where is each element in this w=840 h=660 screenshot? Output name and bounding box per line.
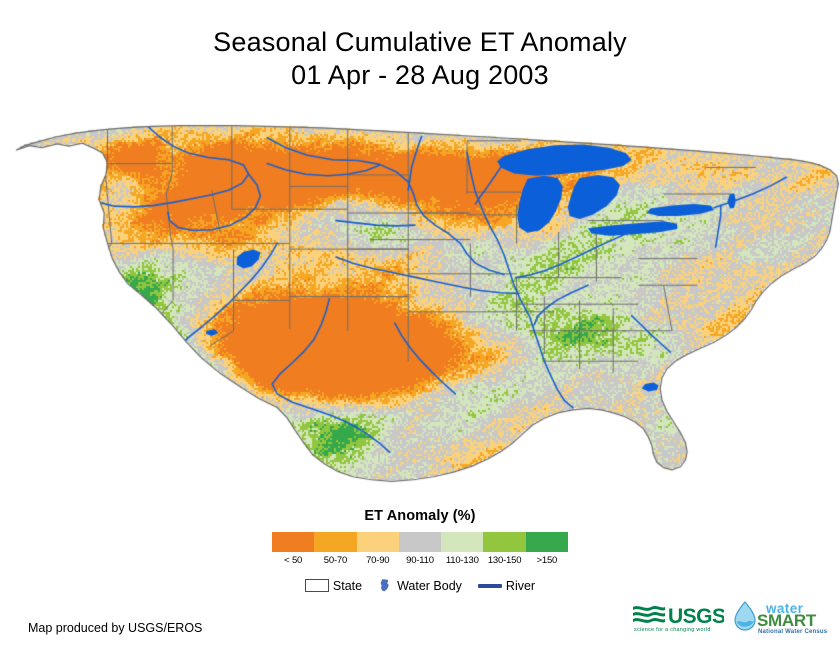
legend-symbol-water-body-label: Water Body bbox=[397, 579, 462, 593]
title-line-1: Seasonal Cumulative ET Anomaly bbox=[0, 26, 840, 59]
map-raster-canvas bbox=[0, 118, 840, 498]
legend-swatch-4 bbox=[441, 532, 483, 552]
legend-symbol-state-label: State bbox=[333, 579, 362, 593]
legend-swatch-0 bbox=[272, 532, 314, 552]
svg-text:National Water Census: National Water Census bbox=[758, 629, 828, 635]
usgs-logo: USGS science for a changing world bbox=[632, 601, 724, 640]
legend-label-6: >150 bbox=[526, 555, 568, 566]
legend-symbol-river-label: River bbox=[506, 579, 535, 593]
et-anomaly-map bbox=[0, 118, 840, 498]
legend-title: ET Anomaly (%) bbox=[0, 508, 840, 524]
state-outline-icon bbox=[305, 579, 329, 592]
legend-class-labels: < 5050-7070-9090-110110-130130-150>150 bbox=[272, 555, 568, 566]
legend-swatch-3 bbox=[399, 532, 441, 552]
legend-label-5: 130-150 bbox=[483, 555, 525, 566]
legend-label-2: 70-90 bbox=[357, 555, 399, 566]
title-line-2: 01 Apr - 28 Aug 2003 bbox=[0, 59, 840, 92]
river-line-icon bbox=[478, 584, 502, 588]
legend-label-0: < 50 bbox=[272, 555, 314, 566]
legend-label-1: 50-70 bbox=[314, 555, 356, 566]
legend-swatch-6 bbox=[526, 532, 568, 552]
legend-symbol-row: State Water Body River bbox=[0, 578, 840, 593]
svg-text:USGS: USGS bbox=[668, 605, 724, 628]
legend-swatch-2 bbox=[357, 532, 399, 552]
water-body-icon bbox=[378, 578, 393, 593]
watersmart-logo: water SMART National Water Census bbox=[730, 600, 834, 641]
agency-logos: USGS science for a changing world water … bbox=[632, 600, 834, 641]
map-legend: ET Anomaly (%) < 5050-7070-9090-110110-1… bbox=[0, 508, 840, 593]
svg-text:SMART: SMART bbox=[757, 611, 817, 630]
svg-text:science for a changing world: science for a changing world bbox=[634, 627, 711, 633]
legend-swatch-5 bbox=[483, 532, 525, 552]
legend-symbol-water-body: Water Body bbox=[378, 578, 462, 593]
legend-symbol-river: River bbox=[478, 579, 535, 593]
legend-symbol-state: State bbox=[305, 579, 362, 593]
water-droplet-icon bbox=[735, 602, 755, 630]
legend-label-4: 110-130 bbox=[441, 555, 483, 566]
legend-color-ramp bbox=[272, 532, 568, 552]
page-title: Seasonal Cumulative ET Anomaly 01 Apr - … bbox=[0, 26, 840, 92]
legend-swatch-1 bbox=[314, 532, 356, 552]
map-credit: Map produced by USGS/EROS bbox=[28, 621, 202, 635]
legend-label-3: 90-110 bbox=[399, 555, 441, 566]
